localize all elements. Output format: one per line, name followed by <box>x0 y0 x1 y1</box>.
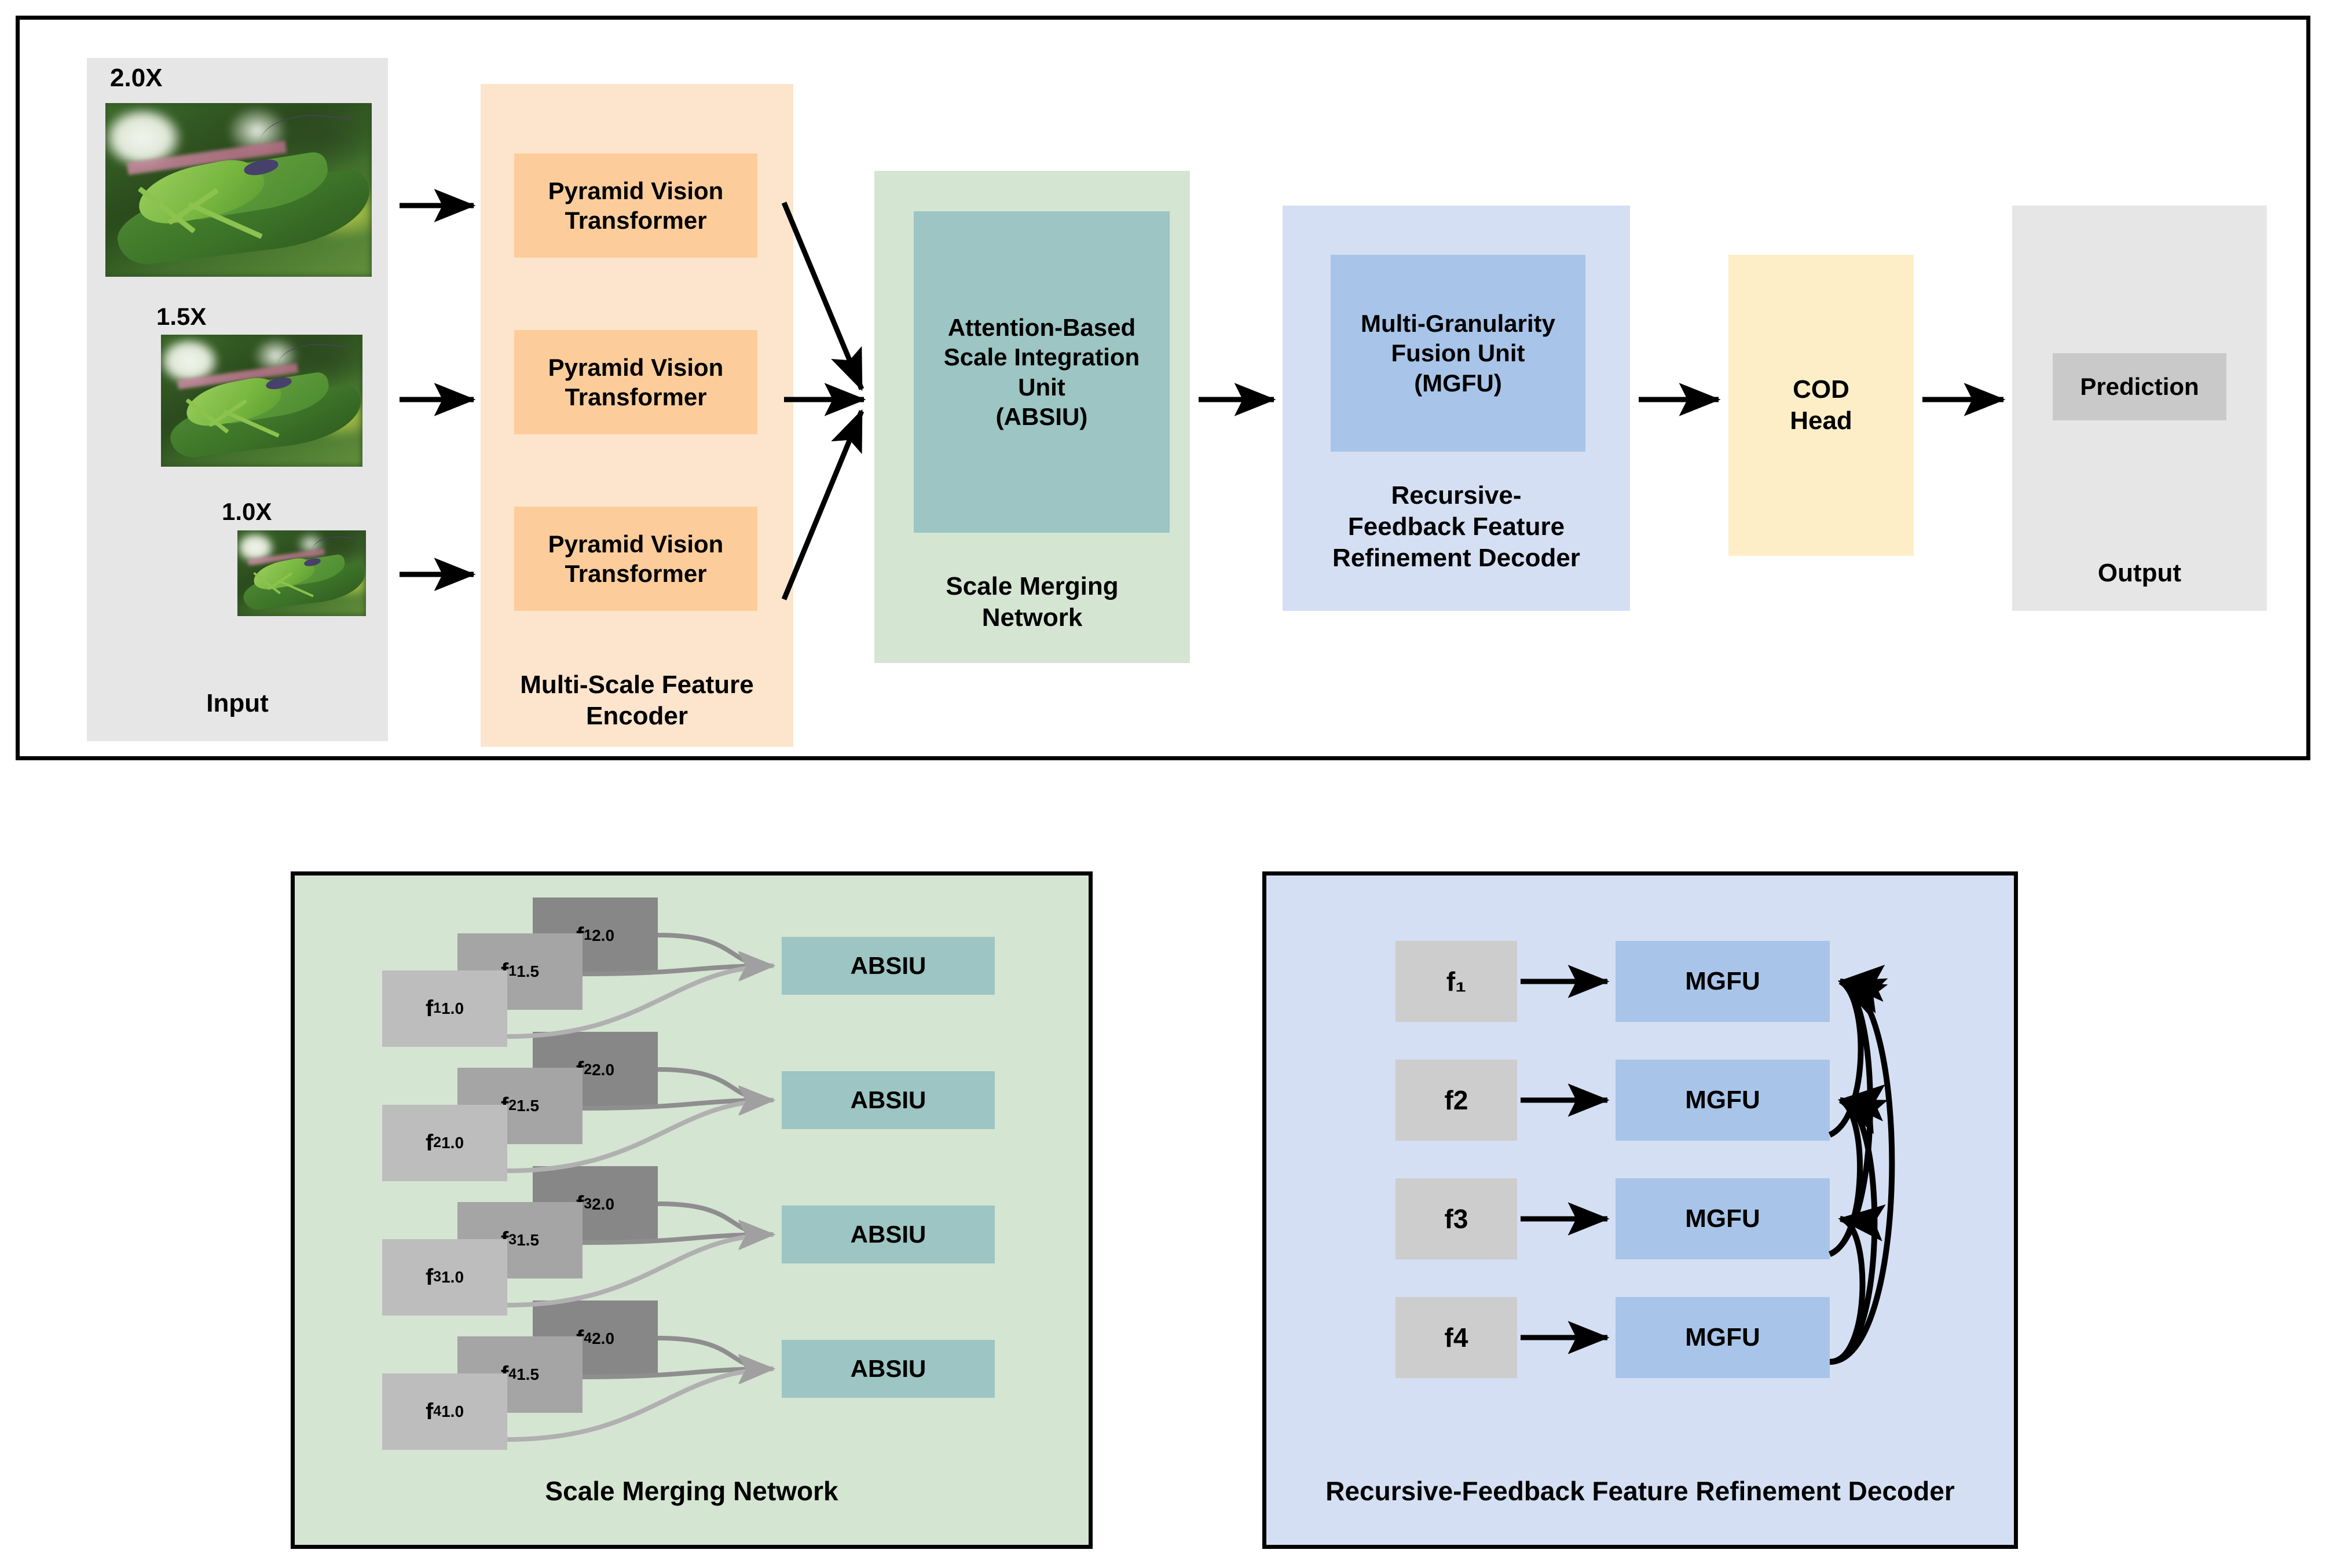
scale-merging-network-label: Scale Merging Network <box>874 565 1190 640</box>
feature-label: f <box>426 1130 433 1156</box>
feature-index: 2 <box>433 1135 441 1151</box>
feature-scale: 1.5 <box>517 962 539 981</box>
feature-index: 4 <box>584 1331 592 1347</box>
absiu-block-1[interactable]: ABSIU <box>782 937 995 995</box>
feature-index: 3 <box>433 1269 441 1285</box>
scale-label-2x: 2.0X <box>110 61 214 96</box>
feature-index: 2 <box>508 1098 517 1114</box>
input-image-2x <box>105 103 372 277</box>
absiu-block-2[interactable]: ABSIU <box>782 1071 995 1129</box>
feature-box-f3-1.0: f31.0 <box>382 1239 507 1316</box>
scale-label-15x: 1.5X <box>156 300 261 334</box>
feature-index: 4 <box>508 1366 517 1383</box>
feature-box-f2-1.0: f21.0 <box>382 1105 507 1181</box>
pyramid-vision-transformer-3[interactable]: Pyramid Vision Transformer <box>514 507 757 611</box>
mgfu-unit[interactable]: Multi-Granularity Fusion Unit (MGFU) <box>1331 255 1585 452</box>
feature-scale: 1.5 <box>517 1365 539 1384</box>
decoder-panel-caption: Recursive-Feedback Feature Refinement De… <box>1262 1471 2018 1511</box>
feature-index: 3 <box>584 1196 592 1212</box>
feature-index: 4 <box>433 1404 441 1420</box>
feature-index: 1 <box>508 963 517 980</box>
feature-scale: 2.0 <box>592 926 614 945</box>
decoder-feature-f2: f2 <box>1395 1060 1517 1141</box>
feature-index: 1 <box>584 928 592 944</box>
feature-index: 3 <box>508 1232 517 1248</box>
decoder-feature-f1: f₁ <box>1395 941 1517 1022</box>
feature-scale: 2.0 <box>592 1195 614 1214</box>
pyramid-vision-transformer-2[interactable]: Pyramid Vision Transformer <box>514 330 757 434</box>
pyramid-vision-transformer-1[interactable]: Pyramid Vision Transformer <box>514 153 757 258</box>
input-image-15x <box>161 335 362 467</box>
scale-merging-panel-caption: Scale Merging Network <box>291 1471 1093 1511</box>
input-group-label: Input <box>87 683 388 724</box>
absiu-unit[interactable]: Attention-Based Scale Integration Unit (… <box>914 211 1170 533</box>
feature-label: f <box>426 1399 433 1425</box>
absiu-block-4[interactable]: ABSIU <box>782 1340 995 1398</box>
feature-scale: 2.0 <box>592 1061 614 1079</box>
feature-scale: 1.5 <box>517 1097 539 1115</box>
scale-label-10x: 1.0X <box>222 496 326 528</box>
feature-box-f4-1.0: f41.0 <box>382 1373 507 1450</box>
feature-label: f <box>426 1265 433 1291</box>
feature-scale: 1.0 <box>441 1268 464 1287</box>
decoder-feature-f3: f3 <box>1395 1178 1517 1259</box>
feature-box-f1-1.0: f11.0 <box>382 970 507 1047</box>
mgfu-block-1[interactable]: MGFU <box>1616 941 1830 1022</box>
cod-head-label: COD Head <box>1728 359 1914 452</box>
decoder-group-label: Recursive- Feedback Feature Refinement D… <box>1283 469 1630 585</box>
input-image-10x <box>237 530 366 616</box>
feature-index: 2 <box>584 1062 592 1078</box>
mgfu-block-2[interactable]: MGFU <box>1616 1060 1830 1141</box>
mgfu-block-4[interactable]: MGFU <box>1616 1297 1830 1378</box>
absiu-block-3[interactable]: ABSIU <box>782 1206 995 1263</box>
feature-scale: 2.0 <box>592 1329 614 1348</box>
feature-scale: 1.0 <box>441 1134 464 1152</box>
mgfu-block-3[interactable]: MGFU <box>1616 1178 1830 1259</box>
prediction-block[interactable]: Prediction <box>2053 353 2226 420</box>
encoder-group-label: Multi-Scale Feature Encoder <box>481 663 793 738</box>
feature-scale: 1.5 <box>517 1231 539 1250</box>
feature-index: 1 <box>433 1001 441 1017</box>
output-group-label: Output <box>2012 553 2267 594</box>
feature-scale: 1.0 <box>441 999 464 1018</box>
decoder-feature-f4: f4 <box>1395 1297 1517 1378</box>
feature-label: f <box>426 996 433 1022</box>
feature-scale: 1.0 <box>441 1402 464 1421</box>
